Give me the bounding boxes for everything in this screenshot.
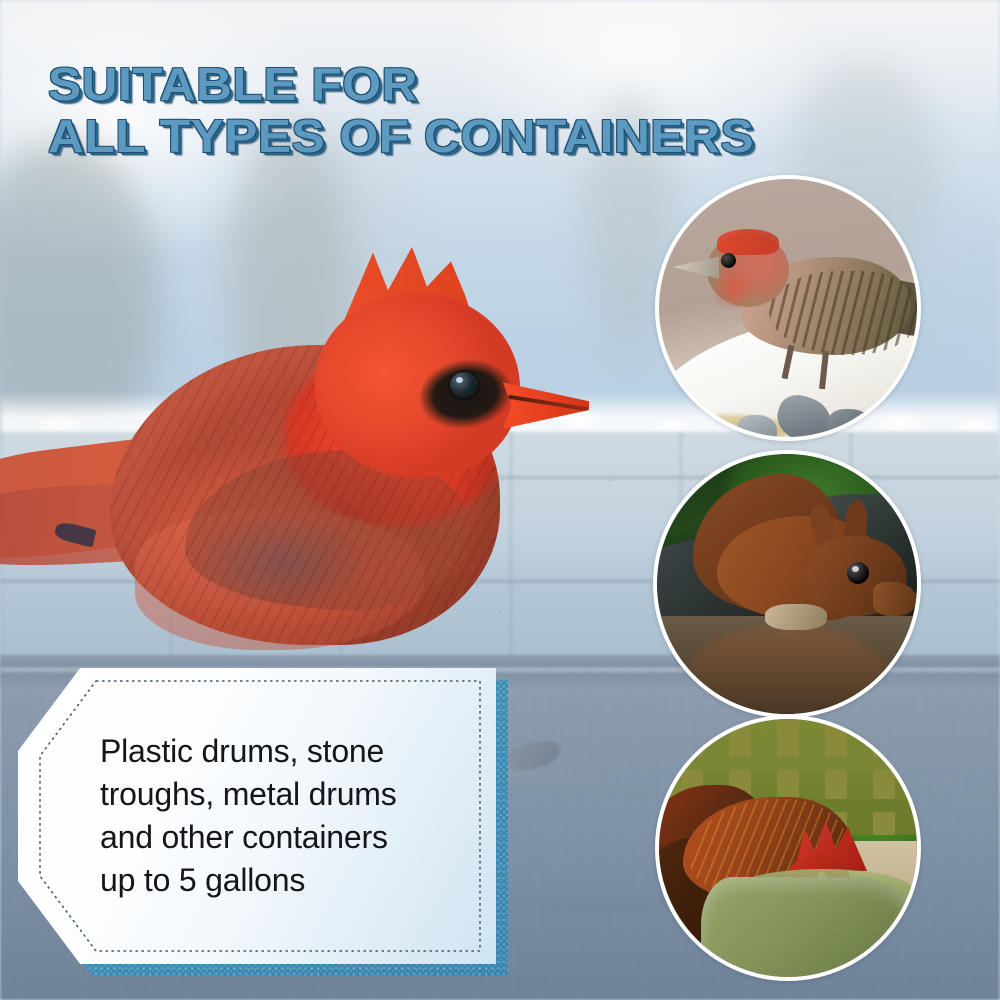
promo-banner: SUITABLE FOR ALL TYPES OF CONTAINERS [0, 0, 1000, 1000]
finch-rock-3 [737, 415, 777, 437]
cardinal-photo [0, 255, 600, 695]
squirrel-eye [847, 562, 869, 584]
finch-rock-2 [827, 409, 873, 437]
photo-circle-rooster[interactable] [655, 715, 921, 981]
cardinal-eye [450, 372, 478, 398]
finch-eye [721, 253, 736, 268]
page-title: SUITABLE FOR ALL TYPES OF CONTAINERS [48, 58, 977, 162]
rooster-scene [659, 719, 917, 977]
squirrel-paw [765, 604, 827, 630]
photo-circle-red-squirrel[interactable] [653, 450, 921, 718]
photo-circle-house-finch[interactable] [655, 175, 921, 441]
rooster-fence-rail-top [679, 757, 917, 770]
rooster-trough-texture [701, 877, 917, 977]
red-squirrel-scene [657, 454, 917, 714]
house-finch-scene [659, 179, 917, 437]
callout-text: Plastic drums, stone troughs, metal drum… [100, 730, 470, 902]
callout-box: Plastic drums, stone troughs, metal drum… [18, 668, 518, 978]
squirrel-water-reflection [687, 626, 887, 714]
finch-red-cap [717, 229, 779, 255]
squirrel-snout [873, 582, 917, 616]
